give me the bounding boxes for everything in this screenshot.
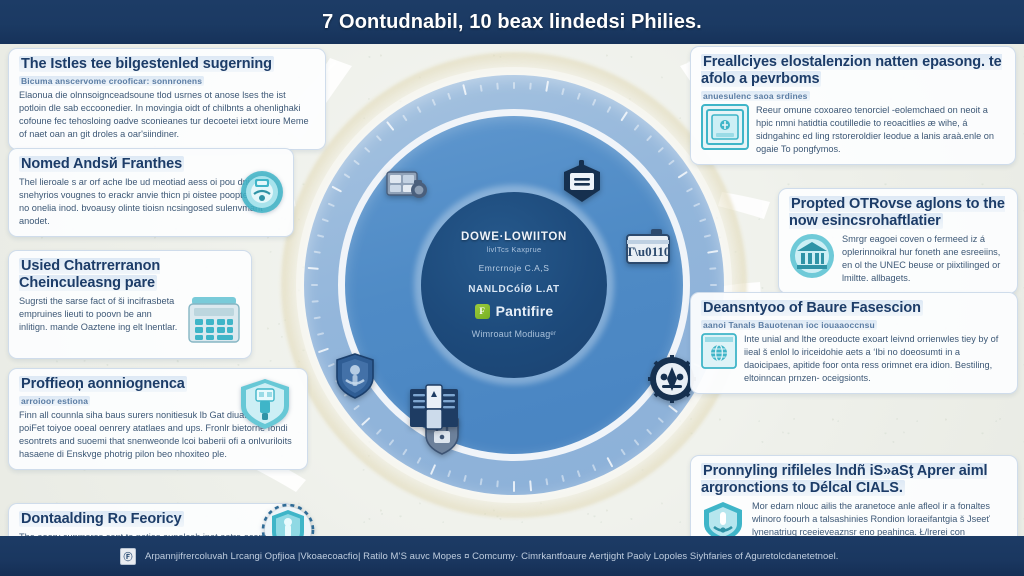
card-right-1-subheading: anuesulenc saoa srdines [701, 91, 1005, 101]
card-right-1-subheading-text: anuesulenc saoa srdines [701, 91, 810, 101]
wheel-core: DOWE·LOWIITON livITcs Kaxprue Emrcrnoje … [421, 192, 607, 378]
core-label: NANLDCóÍØ L.AT [468, 284, 560, 295]
wheel-tick [496, 83, 499, 90]
wheel-tick [658, 147, 665, 153]
wheel-tick [447, 93, 451, 100]
card-right-4-heading-text: Pronnyling rifileles lndñ iS»aSţ Aprer a… [701, 463, 987, 496]
wheel-tick [402, 115, 408, 122]
card-left-3[interactable]: Usied Chatrrerranon Cheinculeasng pare S… [8, 250, 252, 359]
core-footnote: Wimroaut Modiuagᵉʳ [472, 329, 557, 339]
wheel-tick [709, 267, 716, 270]
card-right-1-heading: Freallciyes elostalenzion natten epasong… [701, 54, 1005, 88]
wheel-tick [646, 135, 652, 142]
card-right-3-heading: Deansntyoo of Baure Fasescion [701, 300, 1007, 317]
wheel-tick [620, 111, 628, 121]
wheel-tick [668, 405, 678, 413]
wheel-tick [658, 417, 665, 423]
card-right-3-heading-text: Deansntyoo of Baure Fasescion [701, 300, 923, 316]
wheel-tick [513, 481, 515, 492]
card-left-3-heading-text: Usied Chatrrerranon Cheinculeasng pare [19, 258, 160, 291]
core-title: DOWE·LOWIITON [461, 231, 567, 243]
card-right-1-body: Reeur omune coxoareo tenorciel -eolemcha… [701, 104, 1005, 156]
card-left-4-subheading-text: arroioor estiona [19, 396, 90, 406]
core-brand-name: Pantifire [496, 303, 554, 319]
card-left-1-subheading-text: Bicuma anscervome crooficar: sonnronens [19, 76, 204, 86]
globe-document-icon[interactable] [701, 333, 737, 374]
wheel-tick [668, 160, 675, 166]
wheel-tick [634, 439, 640, 446]
wheel-tick [447, 470, 451, 477]
wheel-tick [331, 186, 342, 193]
wheel-tick [686, 188, 693, 193]
infographic-canvas: DOWE·LOWIITON livITcs Kaxprue Emrcrnoje … [0, 0, 1024, 576]
card-right-1[interactable]: Freallciyes elostalenzion natten epasong… [690, 46, 1016, 165]
wheel-tick [317, 234, 324, 238]
wheel-tick [376, 135, 382, 142]
wheel-tick [480, 85, 483, 92]
header-bar: 7 Oontudnabil, 10 beax lindedsi Philies. [0, 0, 1024, 44]
wheel-tick [545, 81, 549, 92]
wheel-tick [693, 203, 700, 208]
cloud-sync-icon[interactable] [240, 170, 284, 219]
wheel-tick [314, 251, 321, 254]
card-right-2-heading: Propted OTRovse aglons to the now esincs… [789, 196, 1007, 230]
wheel-tick [606, 106, 611, 113]
card-left-1-heading-text: The Istles tee bilgestenled sugerning [19, 56, 274, 72]
core-middle-text: Emrcrnoje C.A,S [479, 263, 550, 273]
wheel-tick [529, 83, 532, 90]
wheel-tick [561, 88, 565, 95]
wheel-tick [317, 332, 324, 336]
calculator-icon[interactable] [187, 295, 241, 350]
wheel-tick [432, 99, 437, 106]
wheel-tick [308, 267, 319, 270]
wheel-tick [513, 82, 515, 89]
document-shield-icon[interactable] [561, 160, 603, 204]
archive-window-icon[interactable] [701, 104, 749, 155]
presentation-media-icon[interactable] [386, 168, 428, 204]
page-title: 7 Oontudnabil, 10 beax lindedsi Philies. [322, 11, 702, 34]
wheel-tick [480, 478, 483, 485]
wheel-tick [322, 218, 329, 222]
wheel-tick [376, 429, 382, 436]
card-right-1-heading-text: Freallciyes elostalenzion natten epasong… [701, 54, 1002, 87]
card-left-3-heading: Usied Chatrrerranon Cheinculeasng pare [19, 258, 241, 292]
card-left-3-text: Sugrsti the sarse fact of ši incifrasbet… [19, 295, 180, 334]
wheel-tick [620, 449, 626, 456]
wheel-tick [545, 478, 548, 485]
wheel-tick [592, 464, 597, 471]
footer-caption: Arpannjifrercoluvah Lrcangi Opfjioa |Vko… [145, 551, 839, 562]
wheel-tick [710, 284, 717, 286]
card-left-3-body: Sugrsti the sarse fact of ši incifrasbet… [19, 295, 241, 350]
card-left-5-heading-text: Dontaalding Ro Feoricy [19, 511, 184, 527]
crest-shield-icon[interactable] [335, 353, 375, 399]
wheel-tick [699, 218, 706, 222]
card-left-2-heading-text: Nomed Andѕй Franthes [19, 156, 184, 172]
card-right-2[interactable]: Propted OTRovse aglons to the now esincs… [778, 188, 1018, 294]
wheel-tick [529, 480, 532, 491]
wheel-tick [577, 470, 581, 477]
wheel-tick [592, 99, 597, 106]
footer-bar: Ⓕ Arpannjifrercoluvah Lrcangi Opfjioa |V… [0, 536, 1024, 576]
footer-badge-icon: Ⓕ [120, 548, 136, 565]
wheel-tick [314, 316, 321, 319]
card-right-3[interactable]: Deansntyoo of Baure Fasescion aanoi Tana… [690, 292, 1018, 394]
gear-emblem-icon[interactable] [648, 355, 696, 403]
card-left-1-heading: The Istles tee bilgestenled sugerning [19, 56, 315, 73]
institution-seal-icon[interactable] [789, 233, 835, 284]
briefcase-icon[interactable]: T\u0110 [625, 228, 671, 266]
card-left-4-heading-text: Proffieoņ aonniognenca [19, 376, 187, 392]
wheel-tick [386, 121, 394, 131]
card-left-1-body: Elaonua die olnnsoignceadsoune tlod usrn… [19, 89, 315, 141]
card-right-2-heading-text: Propted OTRovse aglons to the now esincs… [789, 196, 1005, 229]
wheel-tick [646, 429, 652, 436]
wheel-tick [704, 234, 711, 238]
wheel-tick [606, 457, 613, 468]
wheel-tick [353, 405, 360, 411]
card-right-2-text: Smrgr eagoei coven o fermeed iz á opleri… [842, 233, 1007, 285]
core-subtitle: livITcs Kaxprue [487, 245, 542, 254]
wheel-tick [361, 417, 370, 426]
wheel-tick [328, 203, 335, 208]
card-right-4-heading: Pronnyling rifileles lndñ iS»aSţ Aprer a… [701, 463, 1007, 497]
wheel-tick [678, 171, 688, 179]
card-left-1-subheading: Bicuma anscervome crooficar: sonnronens [19, 76, 315, 86]
wheel-tick [430, 464, 436, 475]
wheel-tick [389, 439, 395, 446]
wheel-tick [353, 160, 360, 166]
server-stack-icon[interactable] [408, 383, 460, 433]
wheel-tick [577, 93, 581, 100]
card-left-5-heading: Dontaalding Ro Feoricy [19, 511, 283, 528]
wheel-tick [402, 449, 408, 456]
card-left-1-text: Elaonua die olnnsoignceadsoune tlod usrn… [19, 89, 315, 141]
card-right-3-text: Inte unial and lthe oreoducte exoart lei… [744, 333, 1007, 385]
core-brand-row: F Pantifire [475, 303, 554, 319]
wheel-tick [311, 284, 318, 286]
card-right-3-subheading-text: aanoi Tanals Bauotenan ioc iouaaoccnsu [701, 320, 877, 330]
wheel-tick [463, 475, 467, 482]
svg-text:T\u0110: T\u0110 [626, 244, 671, 259]
brand-mark-icon: F [475, 304, 490, 319]
card-right-3-subheading: aanoi Tanals Bauotenan ioc iouaaoccnsu [701, 320, 1007, 330]
wheel-tick [364, 147, 371, 153]
wheel-tick [561, 475, 565, 482]
wheel-tick [328, 363, 335, 368]
wheel-tick [496, 480, 499, 487]
wheel-tick [417, 106, 422, 113]
wheel-tick [707, 250, 718, 254]
wheel-tick [417, 457, 422, 464]
wheel-tick [344, 173, 351, 179]
wheel-tick [312, 300, 319, 303]
card-right-3-body: Inte unial and lthe oreoducte exoart lei… [701, 333, 1007, 385]
card-left-1[interactable]: The Istles tee bilgestenled sugerning Bi… [8, 48, 326, 150]
plug-shield-icon[interactable] [238, 378, 292, 435]
card-right-2-body: Smrgr eagoei coven o fermeed iz á opleri… [789, 233, 1007, 285]
wheel-tick [462, 84, 467, 95]
card-right-1-text: Reeur omune coxoareo tenorciel -eolemcha… [756, 104, 1005, 156]
wheel-tick [318, 348, 329, 353]
wheel-tick [634, 124, 640, 131]
